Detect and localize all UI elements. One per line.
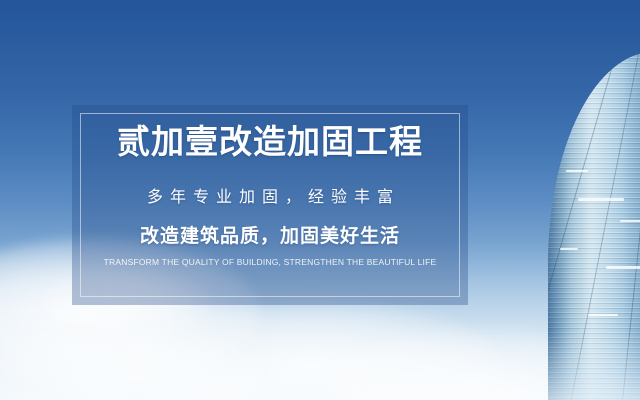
skyscraper-body (548, 52, 640, 400)
skyscraper (548, 52, 640, 400)
window-glint (620, 220, 640, 222)
window-glint (566, 170, 588, 172)
banner-image: 贰加壹改造加固工程 多年专业加固，经验丰富 改造建筑品质，加固美好生活 TRAN… (0, 0, 640, 400)
skyscraper-base-haze (548, 330, 640, 400)
headline: 贰加壹改造加固工程 (72, 123, 468, 161)
panel-content: 贰加壹改造加固工程 多年专业加固，经验丰富 改造建筑品质，加固美好生活 TRAN… (72, 123, 468, 267)
slogan-chinese: 改造建筑品质，加固美好生活 (72, 221, 468, 248)
translucent-text-panel: 贰加壹改造加固工程 多年专业加固，经验丰富 改造建筑品质，加固美好生活 TRAN… (72, 105, 468, 305)
tagline: 多年专业加固，经验丰富 (72, 183, 468, 207)
window-glint (606, 266, 640, 269)
window-glint (578, 198, 624, 201)
window-glint (588, 314, 618, 316)
slogan-english: TRANSFORM THE QUALITY OF BUILDING, STREN… (72, 257, 468, 267)
window-glint (560, 248, 578, 250)
